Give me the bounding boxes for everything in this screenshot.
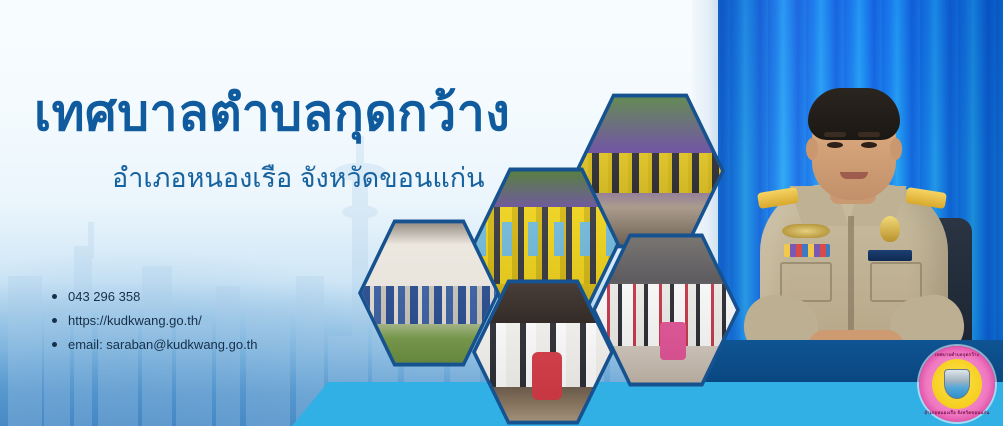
eye-left bbox=[827, 142, 843, 148]
contact-website-text[interactable]: https://kudkwang.go.th/ bbox=[68, 314, 202, 327]
parachutist-wings-badge bbox=[782, 224, 830, 238]
contact-list: 043 296 358 https://kudkwang.go.th/ emai… bbox=[52, 290, 382, 362]
eye-right bbox=[861, 142, 877, 148]
bullet-icon bbox=[52, 342, 57, 347]
mouth bbox=[840, 172, 868, 179]
contact-phone-text: 043 296 358 bbox=[68, 290, 140, 303]
cyan-bottom-bar bbox=[328, 382, 1003, 426]
municipal-seal[interactable]: เทศบาลตำบลกุดกว้าง อำเภอหนองเรือ จังหวัด… bbox=[919, 346, 995, 422]
contact-item-email[interactable]: email: saraban@kudkwang.go.th bbox=[52, 338, 382, 351]
name-tag bbox=[868, 250, 912, 261]
contact-item-website[interactable]: https://kudkwang.go.th/ bbox=[52, 314, 382, 327]
seal-inner-disc bbox=[932, 359, 982, 409]
photo-shade bbox=[476, 282, 610, 422]
photo-shade bbox=[362, 222, 496, 364]
shirt-pocket-right bbox=[870, 262, 922, 302]
contact-email-text[interactable]: email: saraban@kudkwang.go.th bbox=[68, 338, 258, 351]
medal-ribbon-bar bbox=[784, 244, 830, 257]
page-title: เทศบาลตำบลกุดกว้าง bbox=[34, 88, 510, 139]
ear-right bbox=[890, 138, 902, 160]
hex-photo-inner bbox=[362, 222, 496, 364]
contact-item-phone: 043 296 358 bbox=[52, 290, 382, 303]
mayor-figure bbox=[738, 86, 968, 356]
seal-text-bottom: อำเภอหนองเรือ จังหวัดขอนแก่น bbox=[919, 409, 995, 416]
hex-photo-inner bbox=[476, 282, 610, 422]
bullet-icon bbox=[52, 318, 57, 323]
eyebrow-left bbox=[824, 132, 846, 137]
bullet-icon bbox=[52, 294, 57, 299]
ear-left bbox=[806, 138, 818, 160]
crest-badge bbox=[880, 216, 900, 242]
eyebrow-right bbox=[858, 132, 880, 137]
seal-text-top: เทศบาลตำบลกุดกว้าง bbox=[919, 351, 995, 358]
municipality-banner: เทศบาลตำบลกุดกว้าง อำเภอหนองเรือ จังหวัด… bbox=[0, 0, 1003, 426]
hair bbox=[808, 88, 900, 140]
seal-shield-emblem bbox=[944, 369, 970, 399]
page-subtitle: อำเภอหนองเรือ จังหวัดขอนแก่น bbox=[112, 156, 485, 199]
